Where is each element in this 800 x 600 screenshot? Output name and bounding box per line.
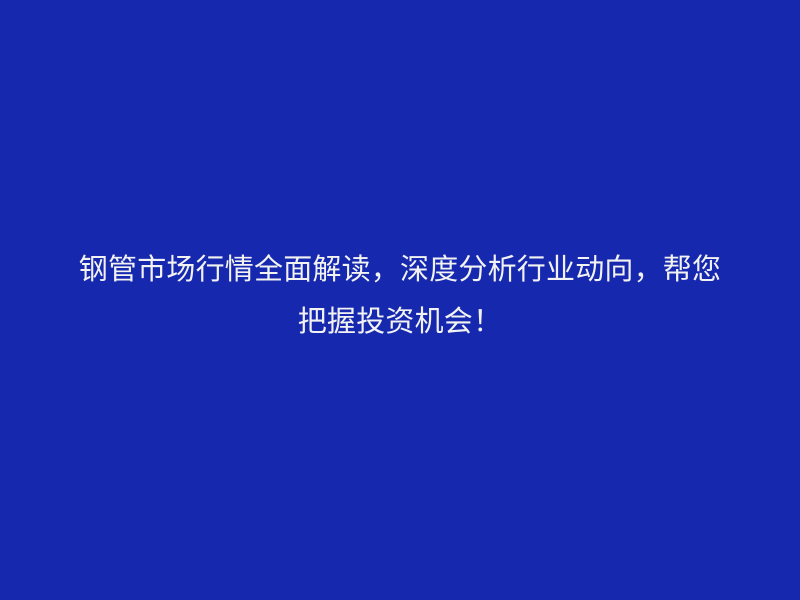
headline-line-1: 钢管市场行情全面解读，深度分析行业动向，帮您 [36, 243, 764, 295]
banner-canvas: 钢管市场行情全面解读，深度分析行业动向，帮您 把握投资机会！ [0, 0, 800, 600]
headline-text-block: 钢管市场行情全面解读，深度分析行业动向，帮您 把握投资机会！ [0, 243, 800, 347]
headline-line-2: 把握投资机会！ [36, 295, 764, 347]
